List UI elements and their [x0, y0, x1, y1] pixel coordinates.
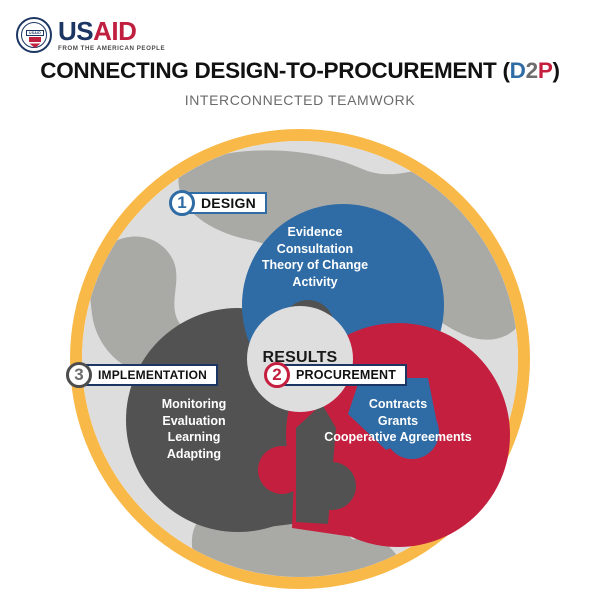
- badge-implementation-number: 3: [66, 362, 92, 388]
- badge-design-number: 1: [169, 190, 195, 216]
- badge-procurement-number: 2: [264, 362, 290, 388]
- seal-wordmark: USAID: [26, 30, 44, 36]
- usaid-wordmark: USAID FROM THE AMERICAN PEOPLE: [58, 18, 165, 52]
- page-title-2: 2: [526, 58, 538, 83]
- usaid-logo: USAID USAID FROM THE AMERICAN PEOPLE: [16, 17, 165, 53]
- badge-procurement-label: PROCUREMENT: [278, 364, 407, 386]
- badge-design[interactable]: 1 DESIGN: [169, 190, 267, 216]
- d2p-diagram: 1 DESIGN Evidence Consultation Theory of…: [60, 128, 540, 590]
- usaid-aid-text: AID: [93, 16, 136, 46]
- items-design: Evidence Consultation Theory of Change A…: [225, 224, 405, 290]
- page-title-main: CONNECTING DESIGN-TO-PROCUREMENT (: [40, 58, 509, 83]
- badge-design-label: DESIGN: [183, 192, 267, 214]
- badge-implementation[interactable]: 3 IMPLEMENTATION: [66, 362, 218, 388]
- page-title-close: ): [553, 58, 560, 83]
- usaid-us-text: US: [58, 16, 93, 46]
- seal-shield-icon: [29, 37, 41, 48]
- usaid-word-row: USAID: [58, 18, 165, 44]
- badge-implementation-label: IMPLEMENTATION: [80, 364, 218, 386]
- usaid-tagline: FROM THE AMERICAN PEOPLE: [58, 46, 165, 52]
- items-implementation: Monitoring Evaluation Learning Adapting: [104, 396, 284, 462]
- usaid-seal-icon: USAID: [16, 17, 52, 53]
- page-title: CONNECTING DESIGN-TO-PROCUREMENT (D2P): [0, 58, 600, 84]
- items-procurement: Contracts Grants Cooperative Agreements: [290, 396, 506, 446]
- infographic-page: USAID USAID FROM THE AMERICAN PEOPLE CON…: [0, 0, 600, 600]
- page-subtitle: INTERCONNECTED TEAMWORK: [0, 92, 600, 108]
- results-label: RESULTS: [240, 349, 360, 367]
- page-title-d: D: [510, 58, 526, 83]
- page-title-p: P: [538, 58, 553, 83]
